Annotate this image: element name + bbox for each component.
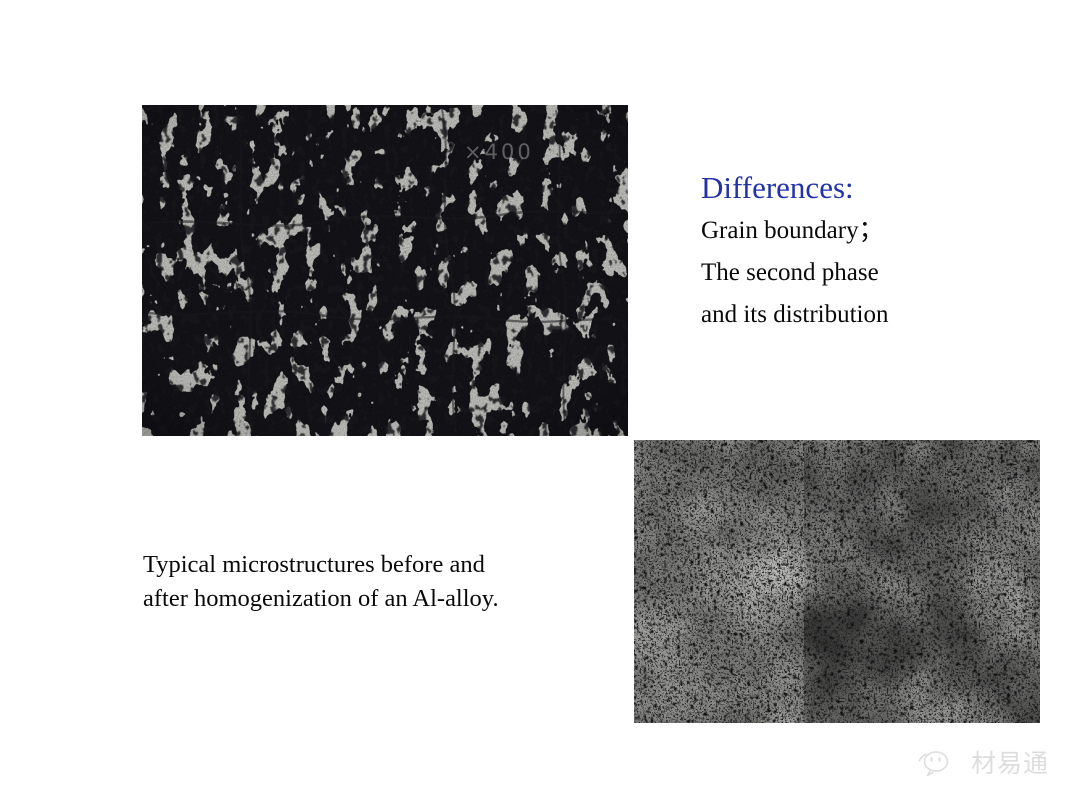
- watermark: 材易通: [918, 748, 1049, 780]
- slide-canvas: ×400: [0, 0, 1080, 810]
- difference-line-second-phase: The second phase: [701, 252, 1031, 294]
- figure-caption: Typical microstructures before and after…: [143, 548, 613, 616]
- difference-line-distribution: and its distribution: [701, 294, 1031, 336]
- watermark-text: 材易通: [971, 749, 1049, 779]
- wechat-icon: [918, 748, 964, 780]
- difference-line-grain-boundary: Grain boundary；: [701, 210, 1031, 252]
- homogenized-micrograph: [634, 440, 1040, 723]
- figure-caption-line-2: after homogenization of an Al-alloy.: [143, 582, 613, 616]
- homogenized-micrograph-graphic: [634, 440, 1040, 723]
- differences-heading: Differences:: [701, 166, 1031, 210]
- dendritic-micrograph-graphic: ×400: [142, 105, 628, 436]
- figure-caption-line-1: Typical microstructures before and: [143, 548, 613, 582]
- as-cast-dendritic-micrograph: ×400: [142, 105, 628, 436]
- differences-text-block: Differences: Grain boundary； The second …: [701, 166, 1031, 336]
